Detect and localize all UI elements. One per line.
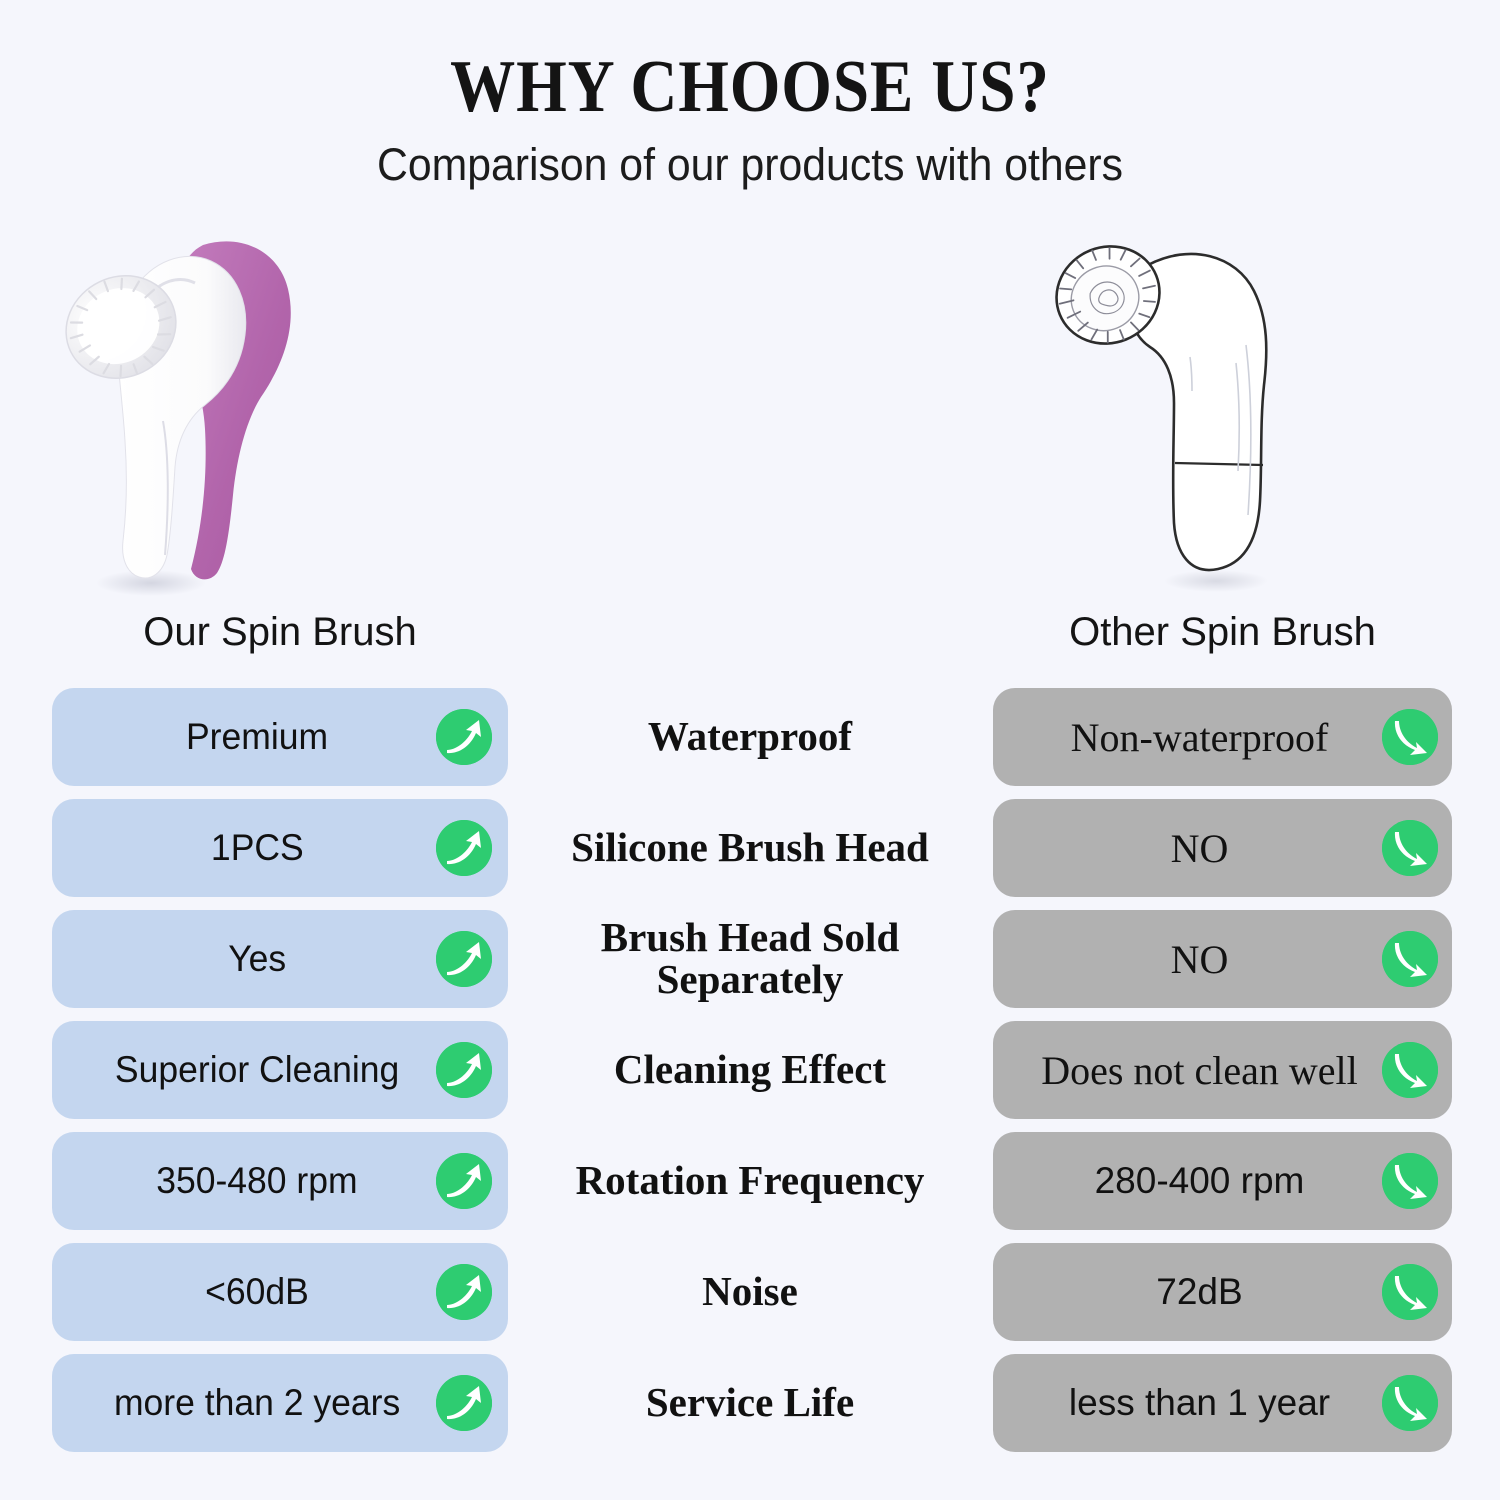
comparison-table: PremiumWaterproofNon-waterproof1PCSSilic…	[0, 688, 1500, 1465]
other-value-pill[interactable]: less than 1 year	[993, 1354, 1452, 1452]
other-value-pill[interactable]: Does not clean well	[993, 1021, 1452, 1119]
arrow-down-swoosh-icon	[1382, 1264, 1438, 1320]
other-value-text: Does not clean well	[1041, 1047, 1358, 1094]
feature-label-line: Noise	[702, 1271, 798, 1313]
comparison-row: 350-480 rpmRotation Frequency280-400 rpm	[0, 1132, 1500, 1230]
arrow-down-swoosh-icon	[1382, 1042, 1438, 1098]
comparison-row: <60dBNoise72dB	[0, 1243, 1500, 1341]
our-value-pill[interactable]: Superior Cleaning	[52, 1021, 508, 1119]
other-value-pill[interactable]: 72dB	[993, 1243, 1452, 1341]
our-value-pill[interactable]: 350-480 rpm	[52, 1132, 508, 1230]
other-value-text: Non-waterproof	[1071, 714, 1329, 761]
feature-label: Brush Head SoldSeparately	[520, 910, 980, 1008]
arrow-up-swoosh-icon	[436, 1264, 492, 1320]
comparison-row: Superior CleaningCleaning EffectDoes not…	[0, 1021, 1500, 1119]
arrow-up-swoosh-icon	[436, 931, 492, 987]
feature-label: Rotation Frequency	[520, 1132, 980, 1230]
other-value-text: less than 1 year	[1069, 1382, 1330, 1424]
arrow-down-swoosh-icon	[1382, 1153, 1438, 1209]
other-value-pill[interactable]: 280-400 rpm	[993, 1132, 1452, 1230]
feature-label-line: Silicone Brush Head	[571, 827, 929, 869]
our-value-text: 350-480 rpm	[156, 1160, 357, 1202]
product-images	[0, 215, 1500, 615]
other-value-pill[interactable]: NO	[993, 910, 1452, 1008]
other-value-text: NO	[1171, 825, 1229, 872]
our-spin-brush-product-image	[55, 215, 375, 605]
arrow-down-swoosh-icon	[1382, 820, 1438, 876]
page-title: WHY CHOOSE US?	[90, 0, 1410, 126]
arrow-up-swoosh-icon	[436, 1042, 492, 1098]
arrow-down-swoosh-icon	[1382, 1375, 1438, 1431]
other-value-pill[interactable]: NO	[993, 799, 1452, 897]
our-value-text: <60dB	[205, 1271, 309, 1313]
our-value-pill[interactable]: 1PCS	[52, 799, 508, 897]
feature-label-line: Waterproof	[648, 716, 852, 758]
our-value-text: Yes	[228, 938, 286, 980]
other-value-pill[interactable]: Non-waterproof	[993, 688, 1452, 786]
our-value-pill[interactable]: Yes	[52, 910, 508, 1008]
our-value-text: Superior Cleaning	[115, 1049, 399, 1091]
our-value-text: more than 2 years	[114, 1382, 400, 1424]
other-value-text: 280-400 rpm	[1095, 1160, 1305, 1202]
our-value-pill[interactable]: more than 2 years	[52, 1354, 508, 1452]
arrow-up-swoosh-icon	[436, 709, 492, 765]
feature-label: Silicone Brush Head	[520, 799, 980, 897]
other-value-text: 72dB	[1156, 1271, 1242, 1313]
feature-label-line: Brush Head Sold	[601, 917, 900, 959]
feature-label: Cleaning Effect	[520, 1021, 980, 1119]
arrow-down-swoosh-icon	[1382, 931, 1438, 987]
arrow-up-swoosh-icon	[436, 1153, 492, 1209]
comparison-row: more than 2 yearsService Lifeless than 1…	[0, 1354, 1500, 1452]
arrow-up-swoosh-icon	[436, 820, 492, 876]
our-value-text: Premium	[186, 716, 328, 758]
feature-label: Waterproof	[520, 688, 980, 786]
other-value-text: NO	[1171, 936, 1229, 983]
our-spin-brush-caption: Our Spin Brush	[52, 608, 508, 656]
feature-label-line: Separately	[601, 959, 900, 1001]
arrow-up-swoosh-icon	[436, 1375, 492, 1431]
feature-label: Service Life	[520, 1354, 980, 1452]
page-header: WHY CHOOSE US? Comparison of our product…	[0, 0, 1500, 190]
feature-label-line: Rotation Frequency	[576, 1160, 925, 1202]
arrow-down-swoosh-icon	[1382, 709, 1438, 765]
other-spin-brush-caption: Other Spin Brush	[993, 608, 1452, 656]
comparison-row: YesBrush Head SoldSeparatelyNO	[0, 910, 1500, 1008]
page-subtitle: Comparison of our products with others	[38, 126, 1463, 190]
feature-label: Noise	[520, 1243, 980, 1341]
our-value-pill[interactable]: Premium	[52, 688, 508, 786]
feature-label-line: Service Life	[646, 1382, 854, 1424]
other-spin-brush-product-image	[1040, 225, 1340, 605]
feature-label-line: Cleaning Effect	[614, 1049, 886, 1091]
comparison-row: 1PCSSilicone Brush HeadNO	[0, 799, 1500, 897]
comparison-row: PremiumWaterproofNon-waterproof	[0, 688, 1500, 786]
our-value-pill[interactable]: <60dB	[52, 1243, 508, 1341]
our-value-text: 1PCS	[211, 827, 304, 869]
